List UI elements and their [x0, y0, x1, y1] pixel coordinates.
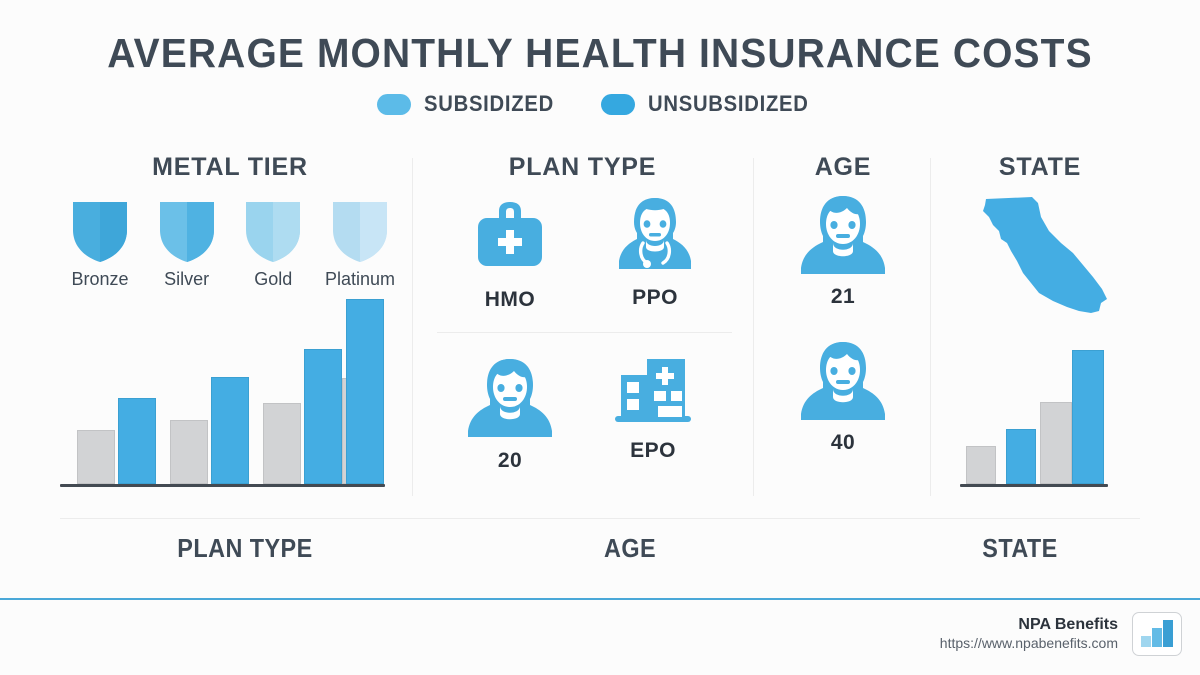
bottom-label-state: STATE	[921, 533, 1119, 564]
footer-url[interactable]: https://www.npabenefits.com	[940, 635, 1118, 653]
bar-state-unsubsidized-1	[1006, 429, 1036, 484]
bar-state-unsubsidized-2	[1072, 350, 1104, 484]
age-label-40: 40	[831, 431, 855, 455]
bar-subsidized-silver	[170, 420, 208, 484]
plan-type-label-age-20: 20	[498, 449, 522, 473]
shield-icon	[156, 196, 218, 264]
footer-branding: NPA Benefits https://www.npabenefits.com	[940, 612, 1182, 656]
panel-divider-2	[753, 158, 754, 496]
metal-tier-label-gold: Gold	[254, 269, 292, 290]
bottom-label-age: AGE	[513, 533, 747, 564]
age-tile-40: 40	[795, 340, 891, 455]
panel-title-state: STATE	[940, 153, 1140, 182]
metal-tier-bronze: Bronze	[60, 196, 140, 290]
person-icon	[797, 340, 889, 422]
footer-company-name: NPA Benefits	[940, 615, 1118, 635]
shield-icon	[329, 196, 391, 264]
panel-divider-3	[930, 158, 931, 496]
plan-type-label-epo: EPO	[630, 439, 676, 463]
pill-dot-icon	[377, 94, 411, 115]
state-chart	[960, 340, 1110, 487]
bar-unsubsidized-bronze	[118, 398, 156, 484]
ascending-bars-logo-icon	[1132, 612, 1182, 656]
legend-label-subsidized: SUBSIDIZED	[424, 91, 554, 117]
california-map-wrapper	[975, 195, 1110, 330]
pill-dot-icon	[601, 94, 635, 115]
footer-accent-line	[0, 598, 1200, 600]
metal-tier-silver: Silver	[147, 196, 227, 290]
chart-legend: SUBSIDIZED UNSUBSIDIZED	[0, 91, 1200, 117]
page-title: AVERAGE MONTHLY HEALTH INSURANCE COSTS	[30, 30, 1170, 77]
bar-subsidized-gold	[263, 403, 301, 484]
bar-unsubsidized-platinum	[346, 299, 384, 484]
person-icon	[797, 194, 889, 276]
legend-item-subsidized: SUBSIDIZED	[377, 91, 565, 117]
plan-type-tile-epo: EPO	[605, 355, 701, 463]
metal-tier-label-platinum: Platinum	[325, 269, 395, 290]
bar-state-subsidized-2	[1040, 402, 1072, 484]
california-map-icon	[975, 195, 1110, 325]
logo-bars-icon	[1140, 619, 1174, 647]
doctor-icon	[613, 195, 697, 273]
plan-type-tile-ppo: PPO	[610, 195, 700, 310]
panel-title-metal-tier: METAL TIER	[60, 153, 400, 182]
panel-title-plan-type: PLAN TYPE	[430, 153, 735, 182]
bottom-section-divider	[60, 518, 1140, 519]
metal-tier-chart-axis	[60, 484, 385, 487]
metal-tier-shields: Bronze Silver Gold Platinum	[60, 196, 400, 290]
bar-unsubsidized-silver	[211, 377, 249, 484]
person-icon	[464, 357, 556, 439]
legend-item-unsubsidized: UNSUBSIDIZED	[601, 91, 823, 117]
legend-label-unsubsidized: UNSUBSIDIZED	[648, 91, 809, 117]
plan-type-tile-age-20: 20	[462, 357, 558, 473]
plan-type-tile-hmo: HMO	[465, 198, 555, 312]
infographic-canvas: AVERAGE MONTHLY HEALTH INSURANCE COSTS S…	[0, 0, 1200, 675]
metal-tier-label-bronze: Bronze	[71, 269, 128, 290]
metal-tier-gold: Gold	[233, 196, 313, 290]
panel-title-age: AGE	[758, 153, 928, 182]
plan-type-label-hmo: HMO	[485, 288, 536, 312]
panel-divider-1	[412, 158, 413, 496]
shield-icon	[69, 196, 131, 264]
bottom-label-plan-type: PLAN TYPE	[115, 533, 376, 564]
bar-subsidized-bronze	[77, 430, 115, 484]
metal-tier-platinum: Platinum	[320, 196, 400, 290]
age-tile-21: 21	[795, 194, 891, 309]
plan-type-inner-divider	[437, 332, 732, 333]
metal-tier-chart	[60, 295, 390, 487]
footer-text: NPA Benefits https://www.npabenefits.com	[940, 615, 1118, 653]
shield-icon	[242, 196, 304, 264]
medical-bag-icon	[470, 198, 550, 272]
state-chart-axis	[960, 484, 1108, 487]
plan-type-label-ppo: PPO	[632, 286, 678, 310]
bar-state-subsidized-1	[966, 446, 996, 484]
metal-tier-label-silver: Silver	[164, 269, 209, 290]
hospital-icon	[607, 355, 699, 427]
bar-unsubsidized-gold	[304, 349, 342, 484]
age-label-21: 21	[831, 285, 855, 309]
